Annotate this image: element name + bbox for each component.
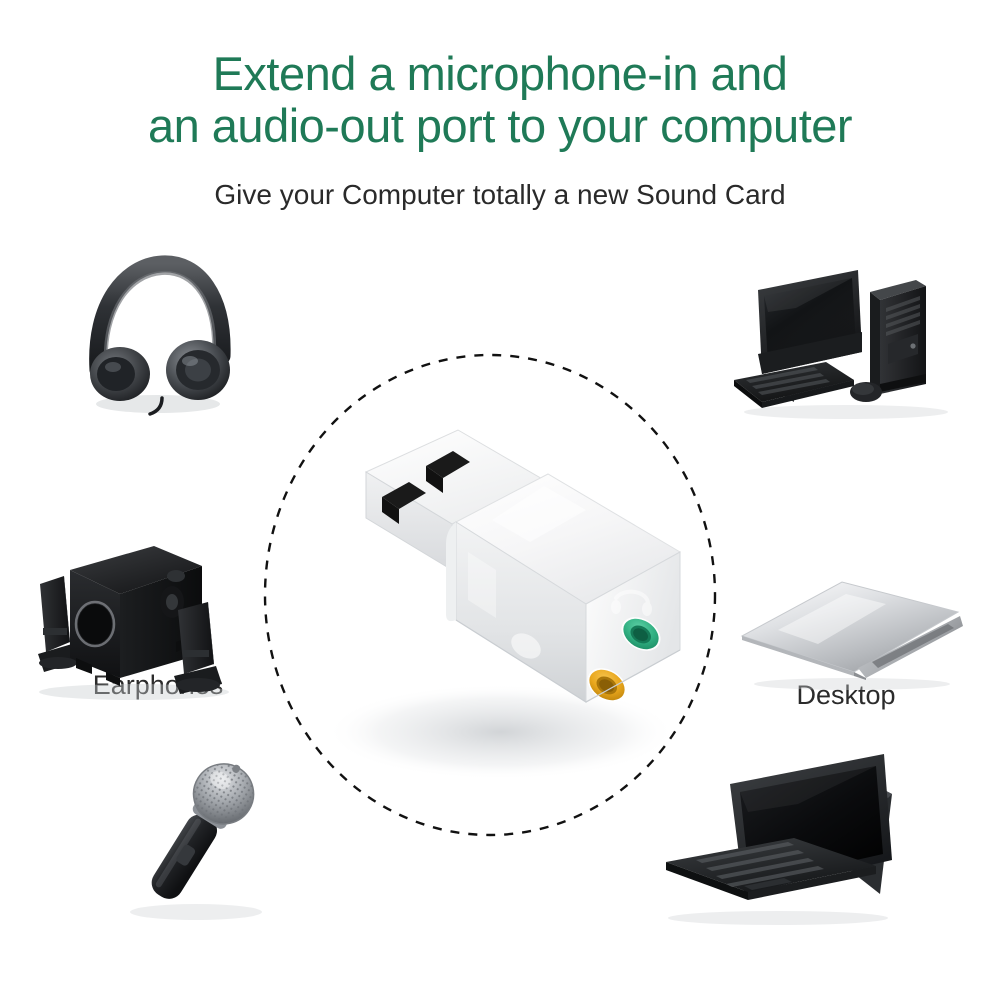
page-title: Extend a microphone-in and an audio-out … <box>0 48 1000 152</box>
item-speakers: Speakers <box>26 532 242 702</box>
desktop-shadow <box>744 405 948 419</box>
laptop-icon <box>734 576 964 694</box>
item-surface: Surface <box>648 742 904 928</box>
laptop-shadow <box>754 678 950 690</box>
headphones-cup-right <box>166 340 230 400</box>
headphones-cup-left <box>90 347 150 401</box>
microphone-shadow <box>130 904 262 920</box>
headline-line-2: an audio-out port to your computer <box>0 100 1000 152</box>
subwoofer-knob[interactable] <box>167 570 185 582</box>
surface-tablet-icon <box>648 742 904 928</box>
headphones-icon <box>58 252 258 417</box>
surface-shadow <box>668 911 888 925</box>
speaker-system-icon <box>26 532 242 702</box>
desktop-mouse[interactable] <box>850 382 882 402</box>
tower-power-button[interactable] <box>910 343 915 348</box>
desktop-tower <box>870 280 926 394</box>
desktop-computer-icon <box>730 262 962 420</box>
usb-sound-card-adapter <box>286 402 706 792</box>
subwoofer-port <box>78 604 112 644</box>
item-earphones: Earphones <box>58 252 258 417</box>
page-subtitle: Give your Computer totally a new Sound C… <box>0 178 1000 212</box>
adapter-corner-highlight <box>446 522 456 621</box>
microphone-body-group <box>135 751 266 912</box>
item-laptop: Laptop <box>734 576 964 694</box>
item-microphone: Microphone <box>98 752 293 924</box>
item-desktop: Desktop <box>730 262 962 420</box>
handheld-microphone-icon <box>98 752 293 924</box>
headline-line-1: Extend a microphone-in and <box>213 47 788 100</box>
product-feature-image: Extend a microphone-in and an audio-out … <box>0 0 1000 1000</box>
product-shadow <box>326 684 676 780</box>
